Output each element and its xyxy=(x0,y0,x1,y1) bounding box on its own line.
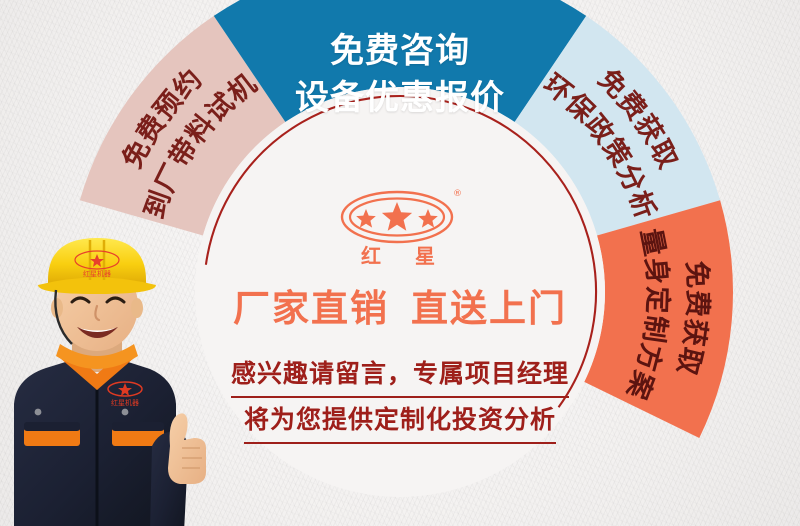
fan-segment-glyph: 免 xyxy=(680,260,713,289)
star-icon-left xyxy=(356,209,376,228)
logo-char-xing: 星 xyxy=(415,244,435,268)
hongxing-logo: ® 红 星 xyxy=(335,183,465,273)
star-icon-center xyxy=(382,202,412,231)
segment-label-line1: 免费咨询 xyxy=(260,28,540,75)
subtitle-row-1: 感兴趣请留言，专属项目经理 xyxy=(180,352,620,398)
fan-segment-glyph: 定 xyxy=(641,286,674,314)
subtitle-line-1: 感兴趣请留言，专属项目经理 xyxy=(231,352,569,398)
star-icon-right xyxy=(418,209,438,228)
segment-label-line2: 设备优惠报价 xyxy=(260,75,540,122)
worker-ear-right xyxy=(131,298,143,318)
banner-canvas: 免费预约到厂带料试机免费获取环保政策分析免费获取量身定制方案 免费咨询 设备优惠… xyxy=(0,0,800,526)
worker-helmet-text: 红星机器 xyxy=(83,269,111,278)
worker-thumbs-up-hand xyxy=(168,413,206,484)
worker-button-left xyxy=(35,409,42,416)
worker-chest-logo-text: 红星机器 xyxy=(111,398,139,407)
subtitle-block: 感兴趣请留言，专属项目经理 将为您提供定制化投资分析 xyxy=(180,352,620,444)
fan-segment-glyph: 身 xyxy=(640,256,674,286)
segment-label-free-consultation[interactable]: 免费咨询 设备优惠报价 xyxy=(260,28,540,122)
worker-pocket-left-flap xyxy=(24,422,80,431)
headline-part2: 直送上门 xyxy=(411,287,567,330)
logo-char-hong: 红 xyxy=(361,244,381,268)
fan-segment-glyph: 制 xyxy=(637,313,672,344)
worker-pocket-right-flap xyxy=(112,422,164,431)
subtitle-row-2: 将为您提供定制化投资分析 xyxy=(180,398,620,444)
subtitle-line-2: 将为您提供定制化投资分析 xyxy=(244,398,556,444)
page-headline: 厂家直销直送上门 xyxy=(180,278,620,332)
worker-button-right xyxy=(122,409,129,416)
fan-segment-glyph: 获 xyxy=(677,317,711,348)
registered-trademark-mark: ® xyxy=(453,189,462,199)
fan-segment-glyph: 费 xyxy=(681,289,713,317)
headline-part1: 厂家直销 xyxy=(233,287,389,330)
worker-photo: 红星机器 红星机器 xyxy=(0,232,230,526)
